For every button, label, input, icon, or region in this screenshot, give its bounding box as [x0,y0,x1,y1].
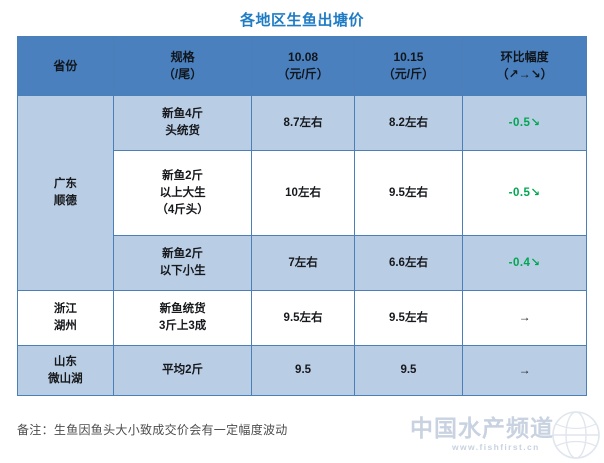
header-change-line1: 环比幅度 [465,49,584,66]
province-line: 山东 [20,354,111,371]
change-number: -0.4 [509,257,531,269]
cell-spec: 新鱼2斤以上大生（4斤头） [113,151,252,236]
table-row: 山东微山湖平均2斤9.59.5→ [18,346,587,396]
header-price1015-line1: 10.15 [357,49,461,66]
header-change-line2: （↗→↘） [465,66,584,83]
cell-price-1015: 9.5左右 [354,151,463,236]
cell-province: 广东顺德 [18,96,114,291]
province-line: 湖州 [20,318,111,335]
header-cell-spec: 规格 （/尾） [113,37,252,96]
price-table-container: 省份 规格 （/尾） 10.08 （元/斤） 10.15 （元/斤） [17,36,587,396]
table-row: 浙江湖州新鱼统货3斤上3成9.5左右9.5左右→ [18,291,587,346]
arrow-down-right-icon: ↘ [530,187,540,199]
arrow-down-right-icon: ↘ [530,117,540,129]
cell-price-1008: 10左右 [252,151,354,236]
watermark-text: 中国水产频道 [410,415,554,441]
spec-line: 新鱼4斤 [116,106,250,123]
change-value: -0.5↘ [509,117,541,129]
cell-spec: 新鱼4斤头统货 [113,96,252,151]
cell-change: → [463,346,587,396]
header-spec-line2: （/尾） [116,66,250,83]
change-value: → [519,363,531,377]
cell-spec: 新鱼2斤以下小生 [113,236,252,291]
cell-spec: 新鱼统货3斤上3成 [113,291,252,346]
watermark: 中国水产频道 www.fishfirst.cn [408,409,604,463]
change-number: -0.5 [509,117,531,129]
header-cell-price-1008: 10.08 （元/斤） [252,37,354,96]
spec-line: 新鱼统货 [116,301,250,318]
cell-change: -0.5↘ [463,96,587,151]
cell-price-1008: 9.5 [252,346,354,396]
spec-line: （4斤头） [116,202,250,219]
header-price1008-line1: 10.08 [254,49,351,66]
header-spec-line1: 规格 [116,49,250,66]
spec-line: 3斤上3成 [116,318,250,335]
spec-line: 头统货 [116,123,250,140]
spec-line: 新鱼2斤 [116,246,250,263]
table-row: 广东顺德新鱼4斤头统货8.7左右8.2左右-0.5↘ [18,96,587,151]
change-number: -0.5 [509,187,531,199]
province-line: 浙江 [20,301,111,318]
cell-change: -0.5↘ [463,151,587,236]
header-province-line1: 省份 [20,58,111,75]
arrow-right-icon: → [519,363,531,377]
cell-price-1008: 8.7左右 [252,96,354,151]
cell-change: -0.4↘ [463,236,587,291]
globe-icon [550,409,602,461]
header-cell-change: 环比幅度 （↗→↘） [463,37,587,96]
arrow-down-right-icon: ↘ [530,257,540,269]
cell-province: 山东微山湖 [18,346,114,396]
cell-change: → [463,291,587,346]
table-body: 广东顺德新鱼4斤头统货8.7左右8.2左右-0.5↘新鱼2斤以上大生（4斤头）1… [18,96,587,396]
cell-price-1015: 9.5左右 [354,291,463,346]
price-table: 省份 规格 （/尾） 10.08 （元/斤） 10.15 （元/斤） [17,36,587,396]
cell-price-1008: 9.5左右 [252,291,354,346]
change-value: → [519,310,531,324]
header-price1015-line2: （元/斤） [357,66,461,83]
province-line: 广东 [20,176,111,193]
footnote: 备注：生鱼因鱼头大小致成交价会有一定幅度波动 [17,421,288,438]
spec-line: 以下小生 [116,263,250,280]
header-price1008-line2: （元/斤） [254,66,351,83]
cell-price-1015: 9.5 [354,346,463,396]
cell-price-1015: 8.2左右 [354,96,463,151]
cell-price-1008: 7左右 [252,236,354,291]
spec-line: 新鱼2斤 [116,168,250,185]
cell-spec: 平均2斤 [113,346,252,396]
watermark-url: www.fishfirst.cn [452,442,540,452]
arrow-right-icon: → [519,310,531,324]
spec-line: 以上大生 [116,185,250,202]
cell-province: 浙江湖州 [18,291,114,346]
table-header: 省份 规格 （/尾） 10.08 （元/斤） 10.15 （元/斤） [18,37,587,96]
page-title: 各地区生鱼出塘价 [0,11,604,31]
cell-price-1015: 6.6左右 [354,236,463,291]
province-line: 顺德 [20,193,111,210]
province-line: 微山湖 [20,371,111,388]
header-cell-province: 省份 [18,37,114,96]
change-value: -0.4↘ [509,257,541,269]
spec-line: 平均2斤 [116,362,250,379]
header-cell-price-1015: 10.15 （元/斤） [354,37,463,96]
infographic-page: 各地区生鱼出塘价 省份 规格 （/尾） 10.08 （元/斤） [0,0,604,463]
header-row: 省份 规格 （/尾） 10.08 （元/斤） 10.15 （元/斤） [18,37,587,96]
change-value: -0.5↘ [509,187,541,199]
